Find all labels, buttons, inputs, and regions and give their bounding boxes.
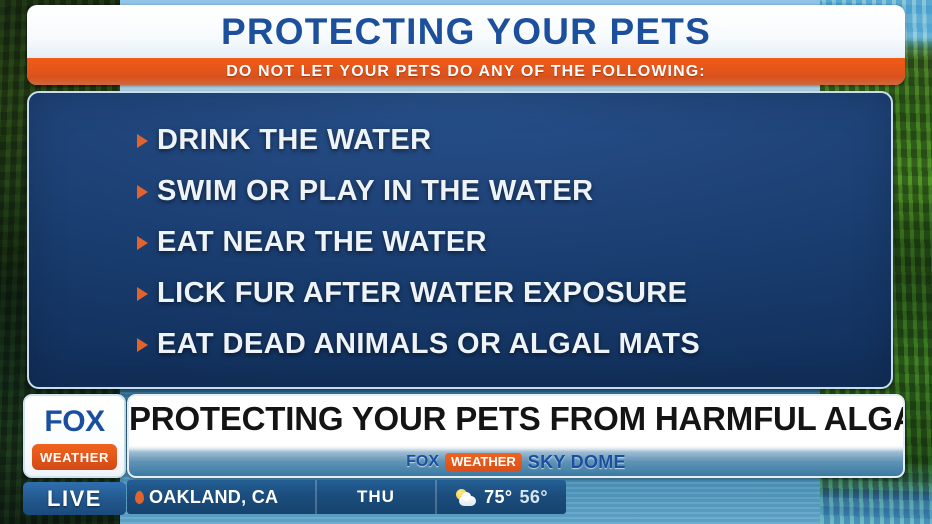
network-logo-block: FOX WEATHER LIVE — [23, 394, 126, 516]
list-item-label: EAT DEAD ANIMALS OR ALGAL MATS — [157, 328, 700, 361]
live-badge: LIVE — [23, 482, 126, 515]
source-strip: FOX WEATHER SKY DOME — [129, 448, 903, 476]
list-item: SWIM OR PLAY IN THE WATER — [29, 166, 891, 217]
sun-behind-cloud-icon — [455, 489, 477, 506]
warning-list: DRINK THE WATER SWIM OR PLAY IN THE WATE… — [29, 115, 891, 370]
live-label: LIVE — [47, 486, 102, 512]
list-item-label: SWIM OR PLAY IN THE WATER — [157, 175, 593, 208]
list-item-label: EAT NEAR THE WATER — [157, 226, 487, 259]
subtitle-text: DO NOT LET YOUR PETS DO ANY OF THE FOLLO… — [226, 63, 705, 81]
headline-box: PROTECTING YOUR PETS FROM HARMFUL ALGAE … — [127, 394, 905, 478]
triangle-bullet-icon — [137, 185, 148, 199]
page-title: PROTECTING YOUR PETS — [27, 11, 905, 53]
triangle-bullet-icon — [137, 338, 148, 352]
source-weather-badge: WEATHER — [445, 453, 522, 471]
conditions-strip: OAKLAND, CA THU 75° 56° — [127, 480, 566, 514]
location-label: OAKLAND, CA — [149, 487, 278, 508]
list-item: EAT NEAR THE WATER — [29, 217, 891, 268]
temperature-cell: 75° 56° — [437, 480, 566, 514]
weather-wordmark-bar: WEATHER — [32, 444, 117, 470]
lower-third: FOX WEATHER LIVE PROTECTING YOUR PETS FR… — [18, 393, 905, 519]
fox-weather-logo: FOX WEATHER — [23, 394, 126, 478]
source-program-label: SKY DOME — [528, 452, 626, 473]
location-cell: OAKLAND, CA — [127, 480, 315, 514]
list-item: EAT DEAD ANIMALS OR ALGAL MATS — [29, 319, 891, 370]
warning-list-panel: DRINK THE WATER SWIM OR PLAY IN THE WATE… — [27, 91, 893, 389]
triangle-bullet-icon — [137, 236, 148, 250]
headline-text: PROTECTING YOUR PETS FROM HARMFUL ALGAE — [129, 400, 903, 438]
weather-wordmark: WEATHER — [40, 450, 109, 465]
triangle-bullet-icon — [137, 287, 148, 301]
list-item: DRINK THE WATER — [29, 115, 891, 166]
list-item-label: LICK FUR AFTER WATER EXPOSURE — [157, 277, 687, 310]
subtitle-bar: DO NOT LET YOUR PETS DO ANY OF THE FOLLO… — [27, 58, 905, 85]
source-fox-label: FOX — [406, 453, 439, 471]
list-item-label: DRINK THE WATER — [157, 124, 432, 157]
title-card: PROTECTING YOUR PETS DO NOT LET YOUR PET… — [27, 5, 905, 85]
cloud-shape — [459, 496, 476, 506]
temp-high-label: 75° — [484, 487, 512, 508]
broadcast-frame: PROTECTING YOUR PETS DO NOT LET YOUR PET… — [0, 0, 932, 524]
triangle-bullet-icon — [137, 134, 148, 148]
day-cell: THU — [317, 480, 435, 514]
day-label: THU — [357, 487, 395, 507]
map-pin-icon — [135, 491, 144, 504]
list-item: LICK FUR AFTER WATER EXPOSURE — [29, 268, 891, 319]
temp-low-label: 56° — [520, 487, 548, 508]
fox-wordmark: FOX — [25, 405, 124, 439]
